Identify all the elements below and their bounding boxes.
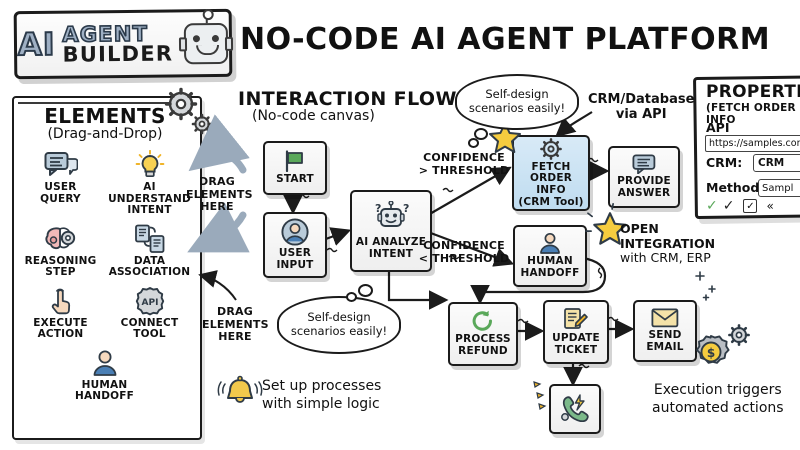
node-label: USERINPUT [276, 248, 313, 272]
element-label: HUMANHANDOFF [75, 380, 134, 403]
crm-select[interactable]: CRM ▾ [753, 154, 800, 172]
execution-caption: Execution triggersautomated actions [652, 382, 784, 417]
svg-text:?: ? [403, 202, 409, 215]
robot-thinking-icon: ? ? [369, 201, 413, 235]
app-logo-badge: AI AGENT BUILDER [14, 9, 233, 79]
flow-node-process-refund[interactable]: PROCESSREFUND [448, 302, 518, 366]
element-item-data-association[interactable]: DATAASSOCIATION [105, 222, 194, 279]
drag-hint-top: DRAG ELEMENTS HERE [186, 176, 248, 214]
node-label: FETCH ORDER INFO (CRM Tool) [514, 162, 588, 209]
open-integration-annotation: OPEN INTEGRATION with CRM, ERP [620, 222, 715, 266]
properties-footer: ✓ ✓ ✓ « [706, 198, 800, 214]
node-label: SENDEMAIL [646, 330, 683, 354]
chevrons-icon[interactable]: « [766, 199, 773, 213]
element-item-reasoning-step[interactable]: REASONINGSTEP [16, 222, 105, 279]
documents-sync-icon [134, 222, 166, 256]
thought-bubble-smaller [346, 292, 357, 302]
person-icon [538, 232, 562, 254]
flow-node-user-input[interactable]: USERINPUT [263, 212, 327, 278]
node-label: PROCESSREFUND [455, 334, 511, 358]
node-label: AI ANALYZEINTENT [356, 237, 426, 261]
chat-bubble-icon [632, 154, 656, 174]
element-item-ai-understand-intent[interactable]: AI UNDERSTANDINTENT [105, 148, 194, 217]
api-endpoint-input[interactable]: https://samples.com [705, 135, 800, 152]
envelope-icon [651, 308, 679, 328]
flow-node-provide-answer[interactable]: PROVIDEANSWER [608, 146, 680, 208]
brain-gear-icon [44, 222, 78, 256]
double-check-icon[interactable]: ✓ [706, 198, 718, 214]
node-label: UPDATETICKET [552, 333, 600, 357]
edge-label-confidence-above: CONFIDENCE> THRESHOLD [418, 152, 510, 177]
phone-bolt-gear-icon [560, 394, 590, 422]
checkbox-checked-icon[interactable]: ✓ [743, 199, 757, 213]
interaction-flow-title: INTERACTION FLOW [238, 88, 457, 110]
method-select-value: Sampl [762, 183, 793, 194]
lightbulb-icon [135, 148, 165, 182]
element-label: EXECUTEACTION [33, 318, 87, 341]
cloud-text: Self-designscenarios easily! [285, 311, 393, 339]
refresh-arrow-icon [471, 310, 495, 332]
flow-node-call-action[interactable] [549, 384, 601, 434]
sparkle-icon [534, 382, 545, 409]
element-item-connect-tool[interactable]: API CONNECTTOOL [105, 284, 194, 341]
elements-list: USERQUERY AI UNDERSTANDINT [16, 148, 194, 408]
drag-hint-bottom: DRAG ELEMENTS HERE [202, 306, 268, 344]
node-label: PROVIDEANSWER [617, 176, 671, 200]
thought-cloud-bottom: Self-designscenarios easily! [277, 296, 401, 354]
element-label: CONNECTTOOL [121, 318, 179, 341]
element-label: REASONINGSTEP [25, 256, 97, 279]
node-label: HUMANHANDOFF [520, 256, 579, 280]
user-avatar-icon [281, 218, 309, 246]
bell-caption: Set up processeswith simple logic [262, 378, 381, 413]
flow-node-send-email[interactable]: SENDEMAIL [633, 300, 697, 362]
element-label: USERQUERY [40, 182, 81, 205]
flow-node-update-ticket[interactable]: UPDATETICKET [543, 300, 609, 364]
interaction-flow-subtitle: (No-code canvas) [252, 108, 375, 124]
element-label: DATAASSOCIATION [109, 256, 191, 279]
whiteboard-canvas: AI AGENT BUILDER NO-CODE AI AGENT PLATFO… [0, 0, 800, 450]
api-gear-icon: API [134, 284, 166, 318]
crm-database-annotation: CRM/Databasevia API [588, 92, 694, 123]
element-item-user-query[interactable]: USERQUERY [16, 148, 105, 217]
crm-select-value: CRM [758, 157, 784, 169]
element-item-human-handoff[interactable]: HUMANHANDOFF [60, 346, 149, 403]
person-icon [91, 346, 119, 380]
elements-panel-subtitle: (Drag-and-Drop) [12, 126, 198, 142]
edge-label-confidence-below: CONFIDENCE< THRESHOLD [418, 240, 510, 265]
element-label: AI UNDERSTANDINTENT [105, 182, 194, 217]
pointing-hand-icon [47, 284, 75, 318]
cloud-text: Self-designscenarios easily! [463, 88, 571, 116]
page-title: NO-CODE AI AGENT PLATFORM [240, 22, 770, 57]
flow-node-fetch-order-info[interactable]: FETCH ORDER INFO (CRM Tool) [512, 135, 590, 211]
check-icon[interactable]: ✓ [723, 198, 735, 214]
robot-head-icon [184, 22, 228, 63]
thought-cloud-top: Self-designscenarios easily! [455, 74, 579, 130]
method-label: Method: [706, 180, 764, 195]
gear-icon [729, 325, 748, 344]
gear-icon [540, 138, 562, 160]
sparkle-icon [696, 272, 715, 300]
svg-text:$: $ [707, 346, 715, 360]
crm-label: CRM: [706, 155, 742, 170]
logo-ai-text: AI [18, 29, 56, 60]
ticket-pencil-icon [563, 307, 589, 331]
elements-panel-title: ELEMENTS [12, 104, 198, 128]
green-flag-icon [283, 150, 307, 172]
logo-builder-text: BUILDER [62, 43, 173, 64]
element-item-execute-action[interactable]: EXECUTEACTION [16, 284, 105, 341]
properties-panel-title: PROPERTIES [706, 82, 800, 102]
node-label: START [276, 174, 314, 186]
method-select[interactable]: Sampl ▾ [758, 179, 800, 197]
chat-bubble-icon [44, 148, 78, 182]
flow-node-human-handoff[interactable]: HUMANHANDOFF [513, 225, 587, 287]
thought-bubble-small [358, 284, 373, 297]
bell-icon [218, 377, 261, 403]
thought-bubble-smaller [468, 138, 479, 148]
coin-gear-icon: $ [697, 336, 729, 363]
flow-node-start[interactable]: START [263, 141, 327, 195]
svg-text:API: API [141, 298, 158, 308]
